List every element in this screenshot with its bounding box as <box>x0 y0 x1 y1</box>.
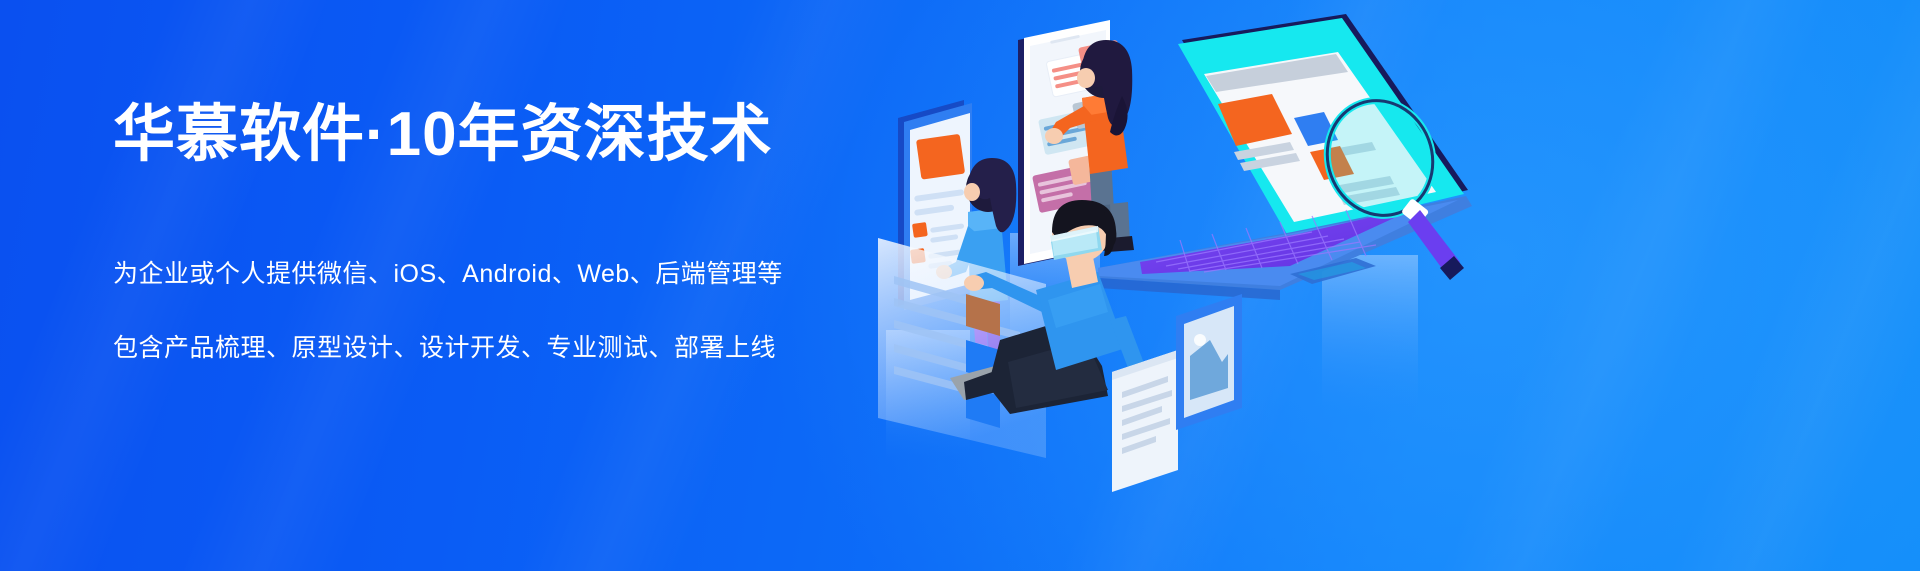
hero-banner: 华慕软件·10年资深技术 为企业或个人提供微信、iOS、Android、Web、… <box>0 0 1920 571</box>
image-card <box>1176 294 1242 430</box>
banner-copy: 华慕软件·10年资深技术 为企业或个人提供微信、iOS、Android、Web、… <box>113 104 873 361</box>
banner-headline: 华慕软件·10年资深技术 <box>113 104 873 166</box>
pedestal-right <box>1322 255 1418 415</box>
banner-subtitle-line-1: 为企业或个人提供微信、iOS、Android、Web、后端管理等 <box>113 262 873 287</box>
banner-subtitle-line-2: 包含产品梳理、原型设计、设计开发、专业测试、部署上线 <box>113 336 873 361</box>
hero-illustration <box>860 0 1920 571</box>
document-card-small <box>1112 350 1178 492</box>
